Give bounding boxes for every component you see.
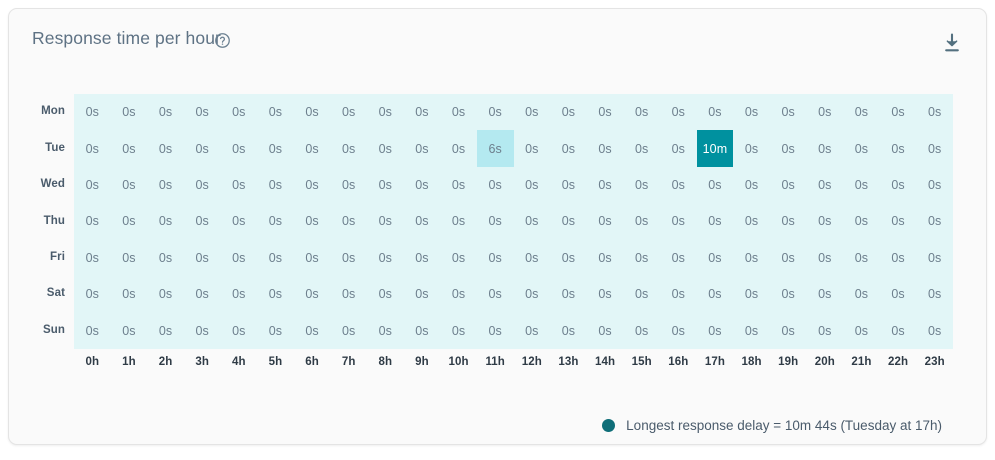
heatmap-cell[interactable]: 0s xyxy=(257,130,294,166)
heatmap-column-label: 4h xyxy=(221,356,258,368)
heatmap-cell[interactable]: 0s xyxy=(367,313,404,349)
heatmap-cell[interactable]: 0s xyxy=(294,276,331,312)
heatmap-column-label: 11h xyxy=(477,356,514,368)
heatmap-cell[interactable]: 0s xyxy=(550,276,587,312)
heatmap-cell[interactable]: 0s xyxy=(111,94,148,130)
heatmap-cell[interactable]: 0s xyxy=(623,203,660,239)
heatmap-cell[interactable]: 0s xyxy=(440,167,477,203)
heatmap-cell[interactable]: 0s xyxy=(550,313,587,349)
heatmap-cell[interactable]: 0s xyxy=(843,276,880,312)
heatmap-cell[interactable]: 0s xyxy=(623,240,660,276)
heatmap-cell[interactable]: 0s xyxy=(111,203,148,239)
heatmap-cell[interactable]: 0s xyxy=(660,94,697,130)
heatmap-cell[interactable]: 0s xyxy=(74,94,111,130)
heatmap-row-label: Mon xyxy=(19,105,65,117)
heatmap-cell[interactable]: 0s xyxy=(697,313,734,349)
heatmap-cell[interactable]: 0s xyxy=(221,130,258,166)
heatmap-cell[interactable]: 0s xyxy=(74,276,111,312)
heatmap-cell[interactable]: 0s xyxy=(330,240,367,276)
heatmap-cell[interactable]: 0s xyxy=(367,276,404,312)
heatmap-cell[interactable]: 0s xyxy=(257,94,294,130)
heatmap-cell[interactable]: 0s xyxy=(550,240,587,276)
heatmap-column-label: 22h xyxy=(880,356,917,368)
heatmap-cell[interactable]: 0s xyxy=(660,130,697,166)
heatmap-cell[interactable]: 0s xyxy=(221,240,258,276)
heatmap-cell[interactable]: 0s xyxy=(916,203,953,239)
heatmap-column-label: 18h xyxy=(733,356,770,368)
heatmap-cell[interactable]: 0s xyxy=(807,240,844,276)
heatmap-cell[interactable]: 0s xyxy=(623,313,660,349)
heatmap-cell[interactable]: 0s xyxy=(843,130,880,166)
heatmap-cell[interactable]: 0s xyxy=(294,130,331,166)
heatmap-cell[interactable]: 0s xyxy=(440,240,477,276)
heatmap-cell[interactable]: 0s xyxy=(477,203,514,239)
heatmap-cell[interactable]: 0s xyxy=(880,240,917,276)
heatmap-cell[interactable]: 0s xyxy=(367,240,404,276)
heatmap-cell[interactable]: 0s xyxy=(514,167,551,203)
download-icon[interactable] xyxy=(940,31,964,55)
heatmap-cell[interactable]: 0s xyxy=(477,94,514,130)
heatmap-column-label: 15h xyxy=(623,356,660,368)
heatmap-cell[interactable]: 0s xyxy=(916,130,953,166)
heatmap-cell[interactable]: 0s xyxy=(843,94,880,130)
heatmap-cell[interactable]: 0s xyxy=(111,313,148,349)
heatmap-cell[interactable]: 0s xyxy=(550,203,587,239)
heatmap-cell[interactable]: 0s xyxy=(916,94,953,130)
heatmap-cell[interactable]: 0s xyxy=(770,276,807,312)
heatmap-column-label: 2h xyxy=(147,356,184,368)
heatmap-cell[interactable]: 0s xyxy=(807,313,844,349)
heatmap-cell[interactable]: 0s xyxy=(221,313,258,349)
heatmap-column-label: 17h xyxy=(697,356,734,368)
heatmap-cell[interactable]: 0s xyxy=(477,240,514,276)
heatmap-cell[interactable]: 0s xyxy=(843,203,880,239)
heatmap-column-label: 10h xyxy=(440,356,477,368)
heatmap-column-label: 6h xyxy=(294,356,331,368)
heatmap-cell[interactable]: 0s xyxy=(440,130,477,166)
heatmap-cell[interactable]: 0s xyxy=(404,167,441,203)
heatmap-cell[interactable]: 0s xyxy=(111,167,148,203)
heatmap-cell[interactable]: 0s xyxy=(440,313,477,349)
heatmap-cell[interactable]: 0s xyxy=(221,203,258,239)
heatmap-cell[interactable]: 0s xyxy=(623,276,660,312)
heatmap-cell[interactable]: 0s xyxy=(257,313,294,349)
heatmap-cell[interactable]: 0s xyxy=(74,313,111,349)
heatmap-cell[interactable]: 0s xyxy=(550,130,587,166)
heatmap-cell[interactable]: 0s xyxy=(184,94,221,130)
heatmap-cell[interactable]: 0s xyxy=(880,130,917,166)
heatmap-cell[interactable]: 0s xyxy=(770,130,807,166)
heatmap-cell[interactable]: 0s xyxy=(440,203,477,239)
heatmap-column-label: 19h xyxy=(770,356,807,368)
response-time-card: Response time per hour MonTueWedThuFriSa… xyxy=(8,8,987,445)
heatmap-cell[interactable]: 0s xyxy=(74,167,111,203)
heatmap-cell[interactable]: 0s xyxy=(257,276,294,312)
heatmap-cell[interactable]: 0s xyxy=(880,313,917,349)
heatmap-cell[interactable]: 0s xyxy=(74,240,111,276)
heatmap-cell[interactable]: 0s xyxy=(807,276,844,312)
heatmap-row-label: Tue xyxy=(19,142,65,154)
heatmap-cell[interactable]: 0s xyxy=(587,130,624,166)
heatmap-column-label: 12h xyxy=(514,356,551,368)
heatmap-cell[interactable]: 0s xyxy=(770,94,807,130)
heatmap-cell[interactable]: 0s xyxy=(587,94,624,130)
heatmap-cell[interactable]: 0s xyxy=(147,203,184,239)
heatmap-cell[interactable]: 0s xyxy=(880,203,917,239)
heatmap-row-label: Thu xyxy=(19,215,65,227)
heatmap-column-label: 7h xyxy=(330,356,367,368)
legend-label: Longest response delay = 10m 44s (Tuesda… xyxy=(626,418,942,433)
heatmap-cell[interactable]: 0s xyxy=(916,276,953,312)
heatmap-cell[interactable]: 0s xyxy=(514,130,551,166)
help-circle-icon[interactable] xyxy=(214,32,231,49)
heatmap-cell[interactable]: 0s xyxy=(733,240,770,276)
heatmap-cell[interactable]: 0s xyxy=(367,203,404,239)
heatmap-cell[interactable]: 0s xyxy=(733,130,770,166)
heatmap-cell[interactable]: 0s xyxy=(697,203,734,239)
heatmap-cell[interactable]: 0s xyxy=(697,167,734,203)
heatmap-cell[interactable]: 0s xyxy=(660,240,697,276)
heatmap-cell[interactable]: 0s xyxy=(184,167,221,203)
heatmap-cell[interactable]: 0s xyxy=(587,203,624,239)
heatmap-column-label: 3h xyxy=(184,356,221,368)
heatmap-cell[interactable]: 0s xyxy=(440,94,477,130)
heatmap-column-label: 16h xyxy=(660,356,697,368)
heatmap-cell[interactable]: 0s xyxy=(404,240,441,276)
legend: Longest response delay = 10m 44s (Tuesda… xyxy=(602,418,942,433)
heatmap-cell[interactable]: 0s xyxy=(660,203,697,239)
heatmap-cell[interactable]: 0s xyxy=(733,94,770,130)
heatmap-column-label: 13h xyxy=(550,356,587,368)
heatmap-cell[interactable]: 0s xyxy=(514,94,551,130)
heatmap-cell[interactable]: 0s xyxy=(404,276,441,312)
heatmap-cell[interactable]: 0s xyxy=(367,130,404,166)
heatmap-cell[interactable]: 0s xyxy=(587,276,624,312)
heatmap-cell[interactable]: 0s xyxy=(843,167,880,203)
heatmap-cell[interactable]: 0s xyxy=(184,130,221,166)
heatmap-row-label: Fri xyxy=(19,251,65,263)
heatmap-cell[interactable]: 0s xyxy=(587,313,624,349)
heatmap-cell[interactable]: 0s xyxy=(221,167,258,203)
heatmap-cell[interactable]: 0s xyxy=(147,130,184,166)
heatmap-cell[interactable]: 0s xyxy=(770,167,807,203)
heatmap-cell[interactable]: 0s xyxy=(294,94,331,130)
heatmap-cell[interactable]: 0s xyxy=(367,94,404,130)
heatmap-cell[interactable]: 0s xyxy=(111,130,148,166)
heatmap-row-label: Sat xyxy=(19,287,65,299)
heatmap-cell[interactable]: 0s xyxy=(733,203,770,239)
heatmap-cell[interactable]: 0s xyxy=(623,167,660,203)
heatmap-cell[interactable]: 0s xyxy=(184,276,221,312)
heatmap-cell[interactable]: 0s xyxy=(147,313,184,349)
heatmap-cell[interactable]: 0s xyxy=(257,203,294,239)
heatmap-cell[interactable]: 0s xyxy=(880,94,917,130)
screenshot-root: Response time per hour MonTueWedThuFriSa… xyxy=(0,0,995,460)
heatmap-cell[interactable]: 0s xyxy=(660,313,697,349)
heatmap-cell[interactable]: 0s xyxy=(294,240,331,276)
heatmap-cell[interactable]: 0s xyxy=(330,313,367,349)
heatmap-cell[interactable]: 0s xyxy=(770,203,807,239)
page-title: Response time per hour xyxy=(32,28,221,49)
heatmap-cell[interactable]: 10m xyxy=(697,130,734,166)
heatmap-cell[interactable]: 0s xyxy=(514,276,551,312)
heatmap-cell[interactable]: 6s xyxy=(477,130,514,166)
heatmap-column-label: 9h xyxy=(404,356,441,368)
heatmap-cell[interactable]: 0s xyxy=(330,276,367,312)
heatmap-cell[interactable]: 0s xyxy=(587,167,624,203)
heatmap-cell[interactable]: 0s xyxy=(294,313,331,349)
heatmap-cell[interactable]: 0s xyxy=(184,313,221,349)
card-header: Response time per hour xyxy=(9,9,986,75)
heatmap-cell[interactable]: 0s xyxy=(404,203,441,239)
heatmap-cell[interactable]: 0s xyxy=(330,94,367,130)
heatmap-cell[interactable]: 0s xyxy=(440,276,477,312)
heatmap-cell[interactable]: 0s xyxy=(916,240,953,276)
heatmap-cell[interactable]: 0s xyxy=(111,240,148,276)
heatmap-cell[interactable]: 0s xyxy=(660,276,697,312)
heatmap-cell[interactable]: 0s xyxy=(697,240,734,276)
heatmap-cell[interactable]: 0s xyxy=(404,130,441,166)
heatmap-cell[interactable]: 0s xyxy=(330,167,367,203)
heatmap-column-label: 1h xyxy=(111,356,148,368)
heatmap-cell[interactable]: 0s xyxy=(330,130,367,166)
heatmap-cell[interactable]: 0s xyxy=(184,203,221,239)
heatmap-cell[interactable]: 0s xyxy=(257,240,294,276)
heatmap-cell[interactable]: 0s xyxy=(477,167,514,203)
heatmap-column-label: 0h xyxy=(74,356,111,368)
heatmap-cell[interactable]: 0s xyxy=(697,276,734,312)
heatmap-row-label: Sun xyxy=(19,324,65,336)
heatmap-cell[interactable]: 0s xyxy=(843,240,880,276)
heatmap-cell[interactable]: 0s xyxy=(477,313,514,349)
heatmap-cell[interactable]: 0s xyxy=(733,167,770,203)
heatmap-cell[interactable]: 0s xyxy=(257,167,294,203)
heatmap-cell[interactable]: 0s xyxy=(697,94,734,130)
heatmap-cell[interactable]: 0s xyxy=(74,130,111,166)
heatmap-row-label: Wed xyxy=(19,178,65,190)
heatmap-cell[interactable]: 0s xyxy=(550,167,587,203)
heatmap-column-label: 21h xyxy=(843,356,880,368)
heatmap-cell[interactable]: 0s xyxy=(184,240,221,276)
heatmap-cell[interactable]: 0s xyxy=(147,94,184,130)
heatmap-cell[interactable]: 0s xyxy=(514,240,551,276)
heatmap-column-label: 23h xyxy=(916,356,953,368)
heatmap-cell[interactable]: 0s xyxy=(807,94,844,130)
heatmap-cell[interactable]: 0s xyxy=(733,313,770,349)
heatmap-cell[interactable]: 0s xyxy=(880,276,917,312)
heatmap-cell[interactable]: 0s xyxy=(660,167,697,203)
heatmap-cell[interactable]: 0s xyxy=(477,276,514,312)
heatmap-cell[interactable]: 0s xyxy=(623,94,660,130)
heatmap-cell[interactable]: 0s xyxy=(770,240,807,276)
heatmap-cell[interactable]: 0s xyxy=(221,94,258,130)
heatmap-cell[interactable]: 0s xyxy=(916,167,953,203)
heatmap-column-label: 8h xyxy=(367,356,404,368)
heatmap-cell[interactable]: 0s xyxy=(147,240,184,276)
legend-dot-icon xyxy=(602,419,615,432)
heatmap-cell[interactable]: 0s xyxy=(221,276,258,312)
heatmap-cell[interactable]: 0s xyxy=(807,203,844,239)
heatmap-cell[interactable]: 0s xyxy=(111,276,148,312)
heatmap-cell[interactable]: 0s xyxy=(587,240,624,276)
heatmap-cell[interactable]: 0s xyxy=(623,130,660,166)
heatmap-cell[interactable]: 0s xyxy=(807,167,844,203)
heatmap-cell[interactable]: 0s xyxy=(916,313,953,349)
heatmap-cell[interactable]: 0s xyxy=(807,130,844,166)
heatmap-cell[interactable]: 0s xyxy=(514,203,551,239)
heatmap-column-label: 14h xyxy=(587,356,624,368)
heatmap-cell[interactable]: 0s xyxy=(404,313,441,349)
heatmap-column-label: 20h xyxy=(807,356,844,368)
heatmap-cell[interactable]: 0s xyxy=(74,203,111,239)
heatmap-cell[interactable]: 0s xyxy=(294,167,331,203)
heatmap-cell[interactable]: 0s xyxy=(367,167,404,203)
heatmap-column-label: 5h xyxy=(257,356,294,368)
heatmap-cell[interactable]: 0s xyxy=(404,94,441,130)
heatmap-cell[interactable]: 0s xyxy=(550,94,587,130)
heatmap-cell[interactable]: 0s xyxy=(880,167,917,203)
heatmap-cell[interactable]: 0s xyxy=(147,276,184,312)
heatmap-cell[interactable]: 0s xyxy=(294,203,331,239)
heatmap-cell[interactable]: 0s xyxy=(514,313,551,349)
heatmap-cell[interactable]: 0s xyxy=(733,276,770,312)
heatmap-cell[interactable]: 0s xyxy=(330,203,367,239)
heatmap-cell[interactable]: 0s xyxy=(147,167,184,203)
heatmap-cell[interactable]: 0s xyxy=(843,313,880,349)
heatmap-cell[interactable]: 0s xyxy=(770,313,807,349)
